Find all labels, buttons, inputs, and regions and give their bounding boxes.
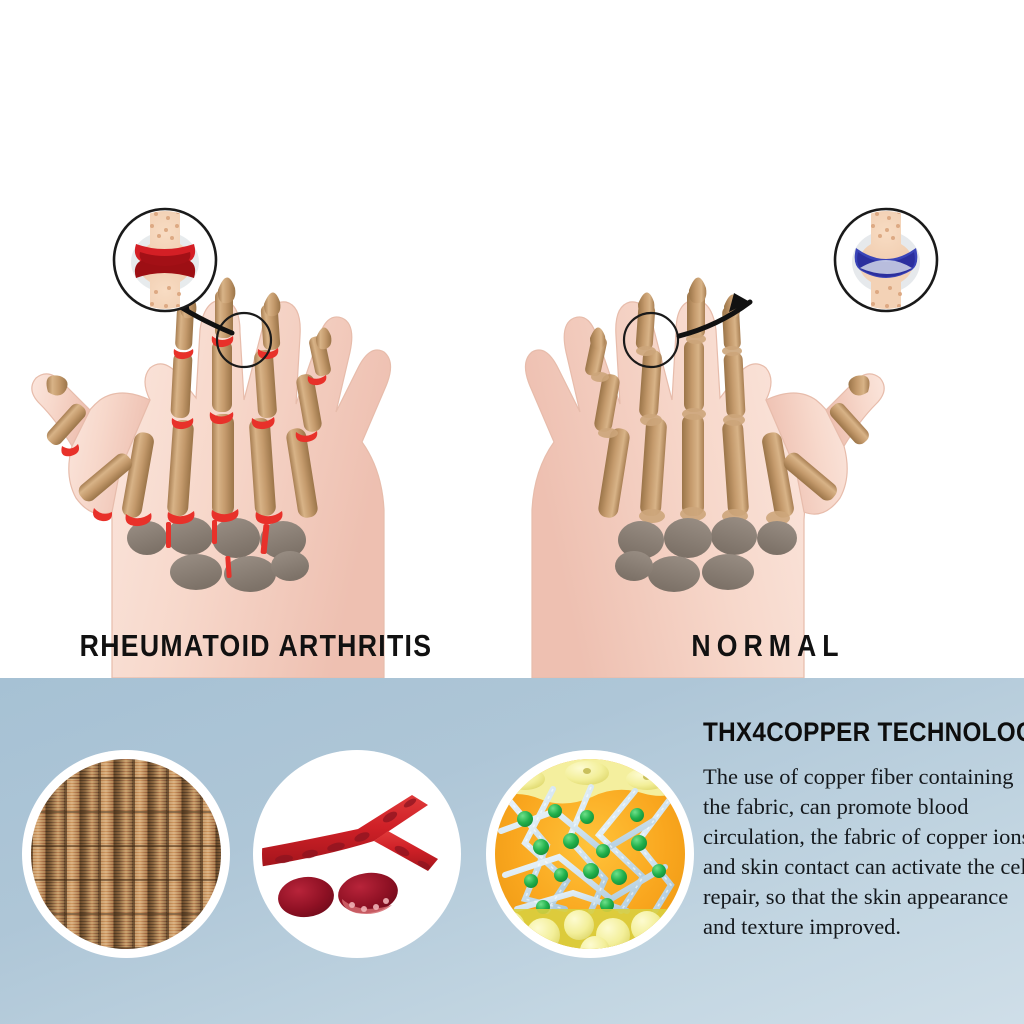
fabric-weave-grid (31, 759, 221, 949)
feature-circle-cell-repair (486, 750, 694, 958)
red-blood-cell (276, 874, 336, 920)
red-blood-cell (336, 869, 401, 917)
arthritis-joint-callout (114, 206, 216, 320)
technology-panel: THX4COPPER TECHNOLOGY The use of copper … (0, 678, 1024, 1024)
normal-label: NORMAL (548, 628, 988, 664)
normal-hand-block: NORMAL (512, 0, 1024, 678)
arthritis-label: RHEUMATOID ARTHRITIS (36, 628, 476, 664)
feature-circle-blood-circulation (253, 750, 461, 958)
normal-joint-callout (835, 206, 937, 320)
hand-comparison-panel: RHEUMATOID ARTHRITIS (0, 0, 1024, 678)
collagen-fibers (501, 787, 673, 911)
arthritis-hand-block: RHEUMATOID ARTHRITIS (0, 0, 512, 678)
blood-vessel-scene (262, 759, 452, 949)
blood-vessel-illustration (262, 759, 452, 949)
technology-text-block: THX4COPPER TECHNOLOGY The use of copper … (703, 718, 1023, 942)
collagen-network-illustration (495, 759, 685, 949)
feature-circle-copper-fabric (22, 750, 230, 958)
infographic-page: RHEUMATOID ARTHRITIS (0, 0, 1024, 1024)
arthritis-hand-illustration (0, 0, 512, 678)
hand-skin (111, 300, 390, 678)
collagen-network-scene (495, 759, 685, 949)
copper-fabric-texture (31, 759, 221, 949)
hand-skin (525, 300, 804, 678)
normal-hand-illustration (512, 0, 1024, 678)
technology-description: The use of copper fiber containing the f… (703, 762, 1024, 942)
technology-heading: THX4COPPER TECHNOLOGY (703, 718, 991, 746)
